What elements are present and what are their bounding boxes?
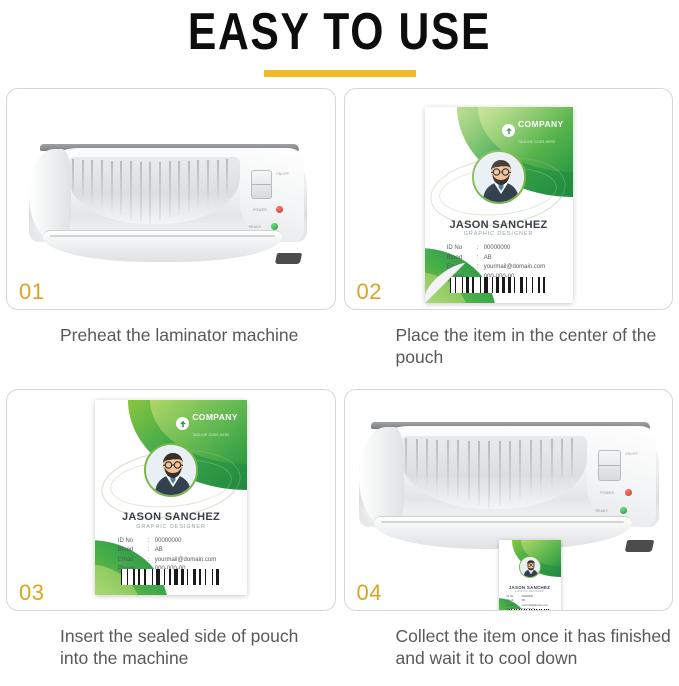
barcode-bar bbox=[181, 569, 183, 585]
barcode-bar bbox=[494, 277, 495, 293]
steps-grid: ON/OFF POWER READY 01 Preheat the lamina… bbox=[0, 88, 679, 686]
machine-output-tray bbox=[43, 230, 282, 261]
step-caption-01: Preheat the laminator machine bbox=[6, 310, 336, 346]
barcode-bar bbox=[129, 569, 133, 585]
pouch-curl-corner bbox=[425, 263, 465, 303]
barcode-bar bbox=[123, 569, 125, 585]
card-field-row: ID No : 00000000 bbox=[447, 244, 568, 254]
id-card: COMPANY TAGLINE GOES HERE bbox=[95, 400, 247, 595]
laminated-card-output: JASON SANCHEZ GRAPHIC DESIGNER ID No : 0… bbox=[499, 540, 561, 611]
barcode-bar bbox=[156, 569, 160, 585]
company-name: COMPANY bbox=[518, 119, 564, 129]
card-person-name: JASON SANCHEZ bbox=[95, 511, 247, 523]
barcode-bar bbox=[199, 569, 200, 585]
machine-vent-slat bbox=[478, 441, 480, 505]
machine-vent-slat bbox=[169, 161, 171, 218]
step-caption-03: Insert the sealed side of pouch into the… bbox=[6, 611, 336, 669]
infographic-page: EASY TO USE ON/OFF POWER READY bbox=[0, 0, 679, 686]
card-person-name: JASON SANCHEZ bbox=[499, 585, 561, 590]
step-caption-02: Place the item in the center of the pouc… bbox=[344, 310, 674, 368]
barcode-bar bbox=[133, 569, 134, 585]
barcode-bar bbox=[520, 277, 524, 293]
machine-vent-slat bbox=[140, 162, 142, 221]
step-panel-02: COMPANY TAGLINE GOES HERE bbox=[344, 88, 674, 310]
card-person-role: GRAPHIC DESIGNER bbox=[425, 231, 573, 237]
barcode-bar bbox=[214, 569, 215, 585]
card-logo-text: COMPANY TAGLINE GOES HERE bbox=[192, 408, 238, 440]
card-person-role: GRAPHIC DESIGNER bbox=[499, 590, 561, 593]
barcode-bar bbox=[187, 569, 188, 585]
step-panel-01: ON/OFF POWER READY 01 bbox=[6, 88, 336, 310]
barcode-bar bbox=[147, 569, 151, 585]
barcode-bar bbox=[136, 569, 137, 585]
step-cell-04: ON/OFF POWER READY bbox=[344, 389, 674, 686]
card-field-separator: : bbox=[148, 556, 155, 566]
ready-led-label: READY bbox=[249, 225, 262, 229]
barcode-bar bbox=[174, 569, 178, 585]
machine-vent-slat bbox=[178, 161, 180, 215]
machine-vent-slat bbox=[561, 439, 563, 487]
avatar bbox=[472, 150, 526, 204]
barcode-bar bbox=[502, 277, 506, 293]
step-number-03: 03 bbox=[19, 580, 44, 606]
step-panel-04: ON/OFF POWER READY bbox=[344, 389, 674, 611]
barcode-bar bbox=[543, 277, 545, 293]
machine-vent-slat bbox=[499, 441, 501, 505]
machine-vent-slat bbox=[111, 161, 113, 213]
machine-vent-slat bbox=[130, 161, 132, 218]
barcode-bar bbox=[466, 277, 468, 293]
card-field-separator: : bbox=[148, 546, 155, 556]
barcode-bar bbox=[220, 569, 221, 585]
barcode-bar bbox=[489, 277, 491, 293]
barcode-bar bbox=[475, 277, 479, 293]
barcode-bar bbox=[492, 277, 493, 293]
card-field-value: yourmail@domain.com bbox=[155, 556, 243, 566]
barcode-bar bbox=[144, 569, 146, 585]
barcode-bar bbox=[121, 569, 122, 585]
machine-vent-slat bbox=[436, 440, 438, 493]
company-logo-icon bbox=[502, 124, 515, 137]
machine-vent-slat bbox=[488, 441, 490, 508]
step-panel-03: COMPANY TAGLINE GOES HERE bbox=[6, 389, 336, 611]
barcode-bar bbox=[172, 569, 173, 585]
laminator-machine-illustration: ON/OFF POWER READY bbox=[29, 144, 307, 264]
machine-vent-slat bbox=[540, 440, 542, 493]
company-logo-icon bbox=[176, 417, 189, 430]
ready-led-icon bbox=[271, 223, 278, 230]
barcode-bar bbox=[538, 277, 539, 293]
machine-vent-slat bbox=[457, 440, 459, 499]
avatar bbox=[144, 443, 198, 497]
barcode-bar bbox=[472, 277, 474, 293]
machine-foot bbox=[275, 253, 302, 264]
barcode-bar bbox=[506, 277, 507, 293]
card-logo-text: COMPANY TAGLINE GOES HERE bbox=[518, 115, 564, 147]
barcode-bar bbox=[500, 277, 501, 293]
barcode-bar bbox=[207, 569, 211, 585]
machine-vent-slat bbox=[571, 438, 573, 483]
barcode-bar bbox=[179, 569, 180, 585]
barcode-bar bbox=[508, 277, 510, 293]
ready-led-icon bbox=[620, 507, 627, 514]
card-field-row: ID No : 00000000 bbox=[118, 537, 243, 547]
barcode-bar bbox=[161, 569, 163, 585]
machine-vent-slat bbox=[149, 162, 151, 224]
page-header: EASY TO USE bbox=[0, 0, 679, 77]
machine-vent-slat bbox=[72, 159, 74, 201]
barcode-bar bbox=[212, 569, 213, 585]
machine-vent-slat bbox=[207, 160, 209, 207]
barcode-bar bbox=[216, 569, 218, 585]
card-field-label: Blood bbox=[118, 546, 148, 556]
card-barcode bbox=[509, 609, 550, 611]
barcode-bar bbox=[496, 277, 498, 293]
machine-vent-slat bbox=[447, 440, 449, 496]
card-field-value: 00000000 bbox=[155, 537, 243, 547]
card-barcode bbox=[121, 569, 221, 585]
switch-label: ON/OFF bbox=[276, 172, 289, 176]
barcode-bar bbox=[512, 277, 513, 293]
machine-vent-slat bbox=[197, 160, 199, 209]
barcode-bar bbox=[541, 277, 542, 293]
card-field-row: Email : yourmail@domain.com bbox=[447, 263, 568, 273]
card-field-separator: : bbox=[477, 263, 484, 273]
barcode-bar bbox=[189, 569, 191, 585]
card-field-row: Blood : AB bbox=[447, 254, 568, 264]
machine-vent-slat bbox=[159, 162, 161, 221]
machine-vent-slat bbox=[101, 160, 103, 209]
barcode-bar bbox=[185, 569, 186, 585]
barcode-bar bbox=[534, 277, 538, 293]
card-field-value: yourmail@domain.com bbox=[484, 263, 568, 273]
step-caption-04: Collect the item once it has finished an… bbox=[344, 611, 674, 669]
step-number-04: 04 bbox=[357, 580, 382, 606]
step-number-01: 01 bbox=[19, 279, 44, 305]
barcode-bar bbox=[532, 277, 533, 293]
barcode-bar bbox=[193, 569, 197, 585]
barcode-bar bbox=[154, 569, 155, 585]
laminator-machine-with-card-illustration: ON/OFF POWER READY bbox=[359, 422, 659, 552]
barcode-bar bbox=[528, 277, 530, 293]
machine-vent-slat bbox=[405, 438, 407, 483]
power-led-icon bbox=[625, 489, 632, 496]
avatar bbox=[519, 556, 541, 578]
barcode-bar bbox=[480, 277, 481, 293]
card-field-value: 00000000 bbox=[484, 244, 568, 254]
barcode-bar bbox=[526, 277, 527, 293]
title-accent-bar bbox=[264, 70, 416, 77]
barcode-bar bbox=[514, 277, 515, 293]
barcode-bar bbox=[202, 569, 204, 585]
machine-vent-slat bbox=[530, 440, 532, 496]
machine-vent-slat bbox=[426, 439, 428, 490]
barcode-bar bbox=[169, 569, 171, 585]
barcode-bar bbox=[524, 277, 525, 293]
card-field-separator: : bbox=[148, 537, 155, 547]
machine-vent-slat bbox=[120, 161, 122, 215]
barcode-bar bbox=[197, 569, 198, 585]
barcode-bar bbox=[152, 569, 153, 585]
page-title: EASY TO USE bbox=[61, 4, 618, 60]
card-field-label: Blood bbox=[447, 254, 477, 264]
id-card-in-pouch: COMPANY TAGLINE GOES HERE bbox=[425, 107, 573, 303]
card-logo: COMPANY TAGLINE GOES HERE bbox=[176, 408, 238, 440]
card-field-row: Blood : AB bbox=[118, 546, 243, 556]
step-number-02: 02 bbox=[357, 279, 382, 305]
barcode-bar bbox=[546, 277, 547, 293]
company-name: COMPANY bbox=[192, 412, 238, 422]
card-field-label: ID No bbox=[447, 244, 477, 254]
machine-vent-slat bbox=[226, 159, 228, 201]
step-cell-02: COMPANY TAGLINE GOES HERE bbox=[344, 88, 674, 385]
card-field-value: AB bbox=[155, 546, 243, 556]
power-led-label: POWER bbox=[253, 208, 267, 212]
barcode-bar bbox=[166, 569, 167, 585]
machine-vent-slat bbox=[416, 439, 418, 487]
power-led-icon bbox=[276, 206, 283, 213]
ready-led-label: READY bbox=[595, 509, 608, 513]
card-field-row: Email : yourmail@domain.com bbox=[118, 556, 243, 566]
machine-vent-slat bbox=[551, 439, 553, 490]
machine-vent-slat bbox=[509, 441, 511, 503]
machine-control-panel: ON/OFF POWER READY bbox=[587, 426, 656, 527]
card-field-separator: : bbox=[477, 254, 484, 264]
company-tagline: TAGLINE GOES HERE bbox=[192, 433, 230, 437]
card-logo: COMPANY TAGLINE GOES HERE bbox=[502, 115, 564, 147]
machine-vent-slat bbox=[188, 161, 190, 213]
barcode-bar bbox=[127, 569, 128, 585]
company-tagline: TAGLINE GOES HERE bbox=[518, 140, 556, 144]
barcode-bar bbox=[138, 569, 140, 585]
card-field-value: AB bbox=[484, 254, 568, 264]
machine-vent-slat bbox=[82, 160, 84, 204]
machine-vent-slat bbox=[519, 440, 521, 499]
machine-control-panel: ON/OFF POWER READY bbox=[240, 148, 304, 242]
power-led-label: POWER bbox=[600, 491, 614, 495]
barcode-bar bbox=[164, 569, 165, 585]
card-person-role: GRAPHIC DESIGNER bbox=[95, 524, 247, 530]
machine-foot bbox=[624, 540, 653, 552]
barcode-bar bbox=[205, 569, 206, 585]
machine-vent-slat bbox=[468, 441, 470, 503]
barcode-bar bbox=[482, 277, 483, 293]
barcode-bar bbox=[484, 277, 488, 293]
step-cell-01: ON/OFF POWER READY 01 Preheat the lamina… bbox=[6, 88, 336, 385]
barcode-bar bbox=[516, 277, 518, 293]
card-field-label: ID No bbox=[118, 537, 148, 547]
card-field-separator: : bbox=[477, 244, 484, 254]
card-person-name: JASON SANCHEZ bbox=[425, 219, 573, 231]
card-field-label: Email bbox=[118, 556, 148, 566]
barcode-bar bbox=[141, 569, 142, 585]
barcode-bar bbox=[470, 277, 471, 293]
power-switch[interactable] bbox=[251, 170, 273, 198]
power-switch[interactable] bbox=[598, 450, 621, 480]
step-cell-03: COMPANY TAGLINE GOES HERE bbox=[6, 389, 336, 686]
switch-label: ON/OFF bbox=[625, 452, 638, 456]
machine-vent-slat bbox=[217, 160, 219, 204]
machine-left-curve bbox=[29, 149, 71, 240]
machine-vent-slat bbox=[91, 160, 93, 207]
